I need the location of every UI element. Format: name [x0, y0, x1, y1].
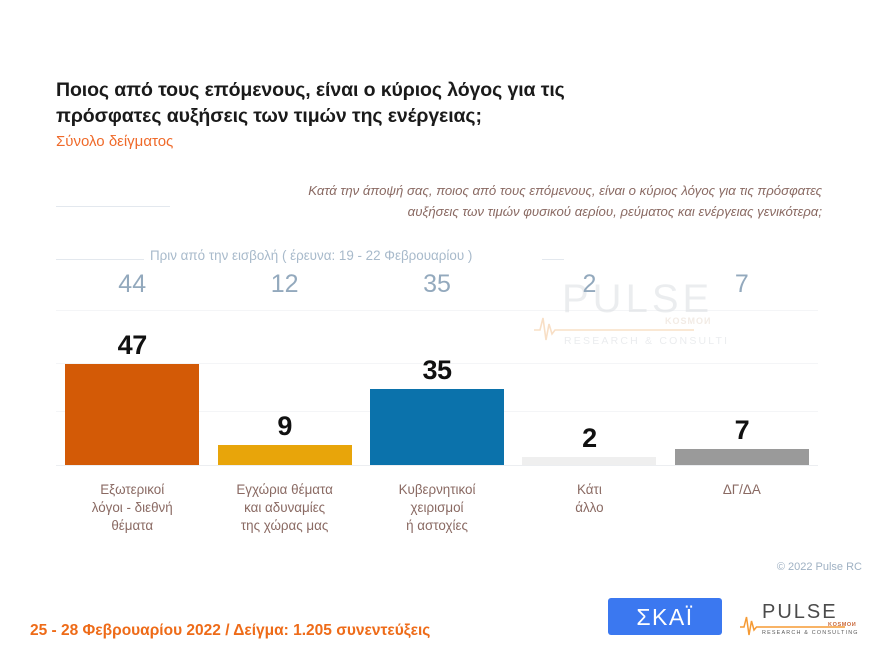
previous-value-3: 35 — [361, 272, 513, 297]
bar-value-label-3: 35 — [422, 357, 451, 384]
category-label-1: Εξωτερικοί λόγοι - διεθνή θέματα — [52, 481, 212, 535]
category-label-3-line-1: Κυβερνητικοί — [357, 481, 517, 499]
page-title-line-1: Ποιος από τους επόμενους, είναι ο κύριος… — [56, 79, 565, 101]
category-label-2: Εγχώρια θέματα και αδυναμίες της χώρας μ… — [204, 481, 364, 535]
chart-column-4: 2 2 Κάτι άλλο — [513, 272, 665, 554]
bar-group-4: 2 — [513, 313, 665, 465]
chart-column-2: 12 9 Εγχώρια θέματα και αδυναμίες της χώ… — [208, 272, 360, 554]
chart-columns: 44 47 Εξωτερικοί λόγοι - διεθνή θέματα 1… — [56, 272, 818, 554]
category-label-5: ΔΓ/ΔΑ — [662, 481, 822, 499]
bar-value-label-1: 47 — [118, 332, 147, 359]
category-label-5-line-1: ΔΓ/ΔΑ — [662, 481, 822, 499]
category-label-3-line-3: ή αστοχίες — [357, 517, 517, 535]
category-label-2-line-3: της χώρας μας — [204, 517, 364, 535]
page-title: Ποιος από τους επόμενους, είναι ο κύριος… — [56, 78, 756, 129]
pulse-logo: PULSE KOSMOИ RESEARCH & CONSULTING — [740, 597, 865, 637]
page-title-line-2: πρόσφατες αυξήσεις των τιμών της ενέργει… — [56, 105, 482, 127]
category-label-4: Κάτι άλλο — [509, 481, 669, 517]
survey-question-line-1: Κατά την άποψή σας, ποιος από τους επόμε… — [150, 180, 822, 201]
category-label-1-line-2: λόγοι - διεθνή — [52, 499, 212, 517]
bar-5[interactable] — [675, 449, 809, 465]
previous-value-1: 44 — [56, 272, 208, 297]
bar-chart: PULSE KOSMOИ RESEARCH & CONSULTING 44 47… — [56, 272, 818, 554]
copyright-notice: © 2022 Pulse RC — [777, 561, 862, 573]
pulse-logo-brand: PULSE — [762, 601, 838, 623]
skai-logo: ΣΚΑΪ — [608, 598, 722, 635]
previous-wave-label: Πριν από την εισβολή ( έρευνα: 19 - 22 Φ… — [150, 248, 472, 263]
chart-column-1: 44 47 Εξωτερικοί λόγοι - διεθνή θέματα — [56, 272, 208, 554]
sample-scope-label: Σύνολο δείγματος — [56, 133, 756, 151]
divider-previous-right — [542, 259, 564, 260]
bar-group-5: 7 — [666, 313, 818, 465]
category-label-4-line-2: άλλο — [509, 499, 669, 517]
bar-4[interactable] — [522, 457, 656, 465]
bar-value-label-2: 9 — [277, 413, 292, 440]
category-label-1-line-1: Εξωτερικοί — [52, 481, 212, 499]
bar-value-label-4: 2 — [582, 425, 597, 452]
category-label-2-line-2: και αδυναμίες — [204, 499, 364, 517]
bar-1[interactable] — [65, 364, 199, 465]
category-label-1-line-3: θέματα — [52, 517, 212, 535]
bar-group-1: 47 — [56, 313, 208, 465]
category-label-4-line-1: Κάτι — [509, 481, 669, 499]
fieldwork-footer: 25 - 28 Φεβρουαρίου 2022 / Δείγμα: 1.205… — [30, 622, 430, 640]
survey-question: Κατά την άποψή σας, ποιος από τους επόμε… — [150, 180, 822, 223]
bar-group-2: 9 — [208, 313, 360, 465]
title-block: Ποιος από τους επόμενους, είναι ο κύριος… — [56, 78, 756, 151]
category-label-3-line-2: χειρισμοί — [357, 499, 517, 517]
skai-logo-text: ΣΚΑΪ — [636, 604, 693, 630]
previous-value-5: 7 — [666, 272, 818, 297]
category-label-2-line-1: Εγχώρια θέματα — [204, 481, 364, 499]
pulse-logo-tagline: RESEARCH & CONSULTING — [762, 630, 859, 636]
divider-previous-left — [56, 259, 144, 260]
survey-question-line-2: αυξήσεις των τιμών φυσικού αερίου, ρεύμα… — [150, 201, 822, 222]
divider-upper — [56, 206, 170, 207]
previous-value-2: 12 — [208, 272, 360, 297]
chart-column-5: 7 7 ΔΓ/ΔΑ — [666, 272, 818, 554]
bar-2[interactable] — [218, 445, 352, 465]
bar-3[interactable] — [370, 389, 504, 465]
chart-column-3: 35 35 Κυβερνητικοί χειρισμοί ή αστοχίες — [361, 272, 513, 554]
bar-group-3: 35 — [361, 313, 513, 465]
category-label-3: Κυβερνητικοί χειρισμοί ή αστοχίες — [357, 481, 517, 535]
bar-value-label-5: 7 — [735, 417, 750, 444]
previous-value-4: 2 — [513, 272, 665, 297]
